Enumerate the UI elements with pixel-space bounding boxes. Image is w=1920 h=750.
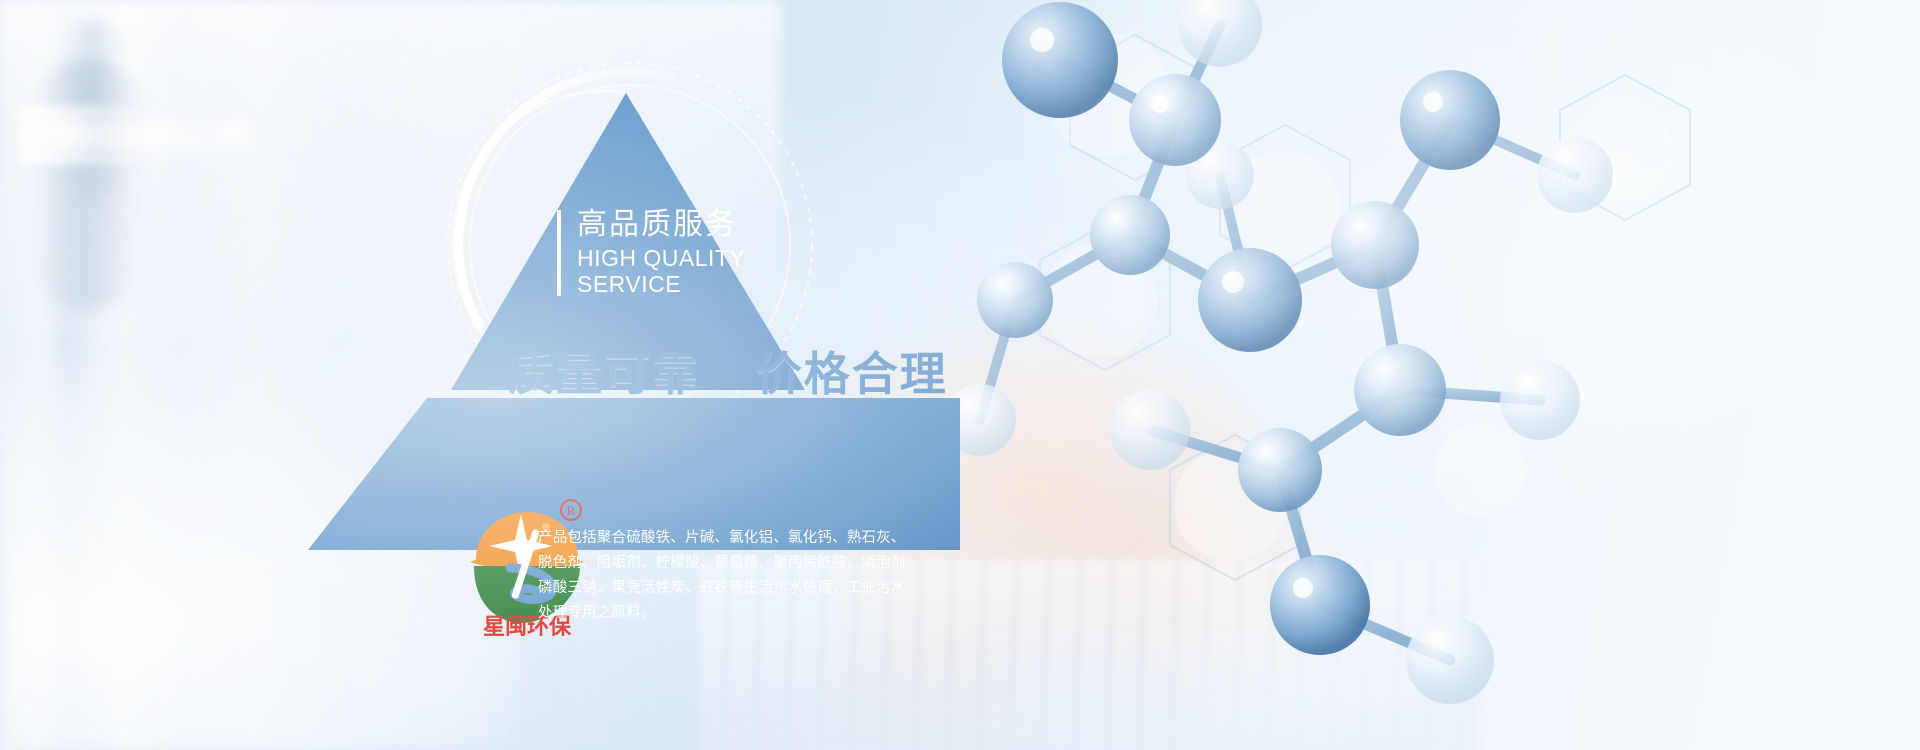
triangle-title-en-2: SERVICE bbox=[577, 273, 745, 296]
molecular-structure-decoration bbox=[920, 0, 1920, 750]
headline-right: 价格合理 bbox=[756, 348, 948, 400]
triangle-title-en-1: HIGH QUALITY bbox=[577, 247, 745, 270]
description-line-4: 处理专用之原料。 bbox=[538, 601, 938, 626]
page-title: 质量可靠 价格合理 bbox=[448, 338, 1008, 404]
description-line-3: 磷酸三钠、果壳活性炭、亚铁等生活污水处理，工业污水 bbox=[538, 576, 938, 601]
description-line-1: 产品包括聚合硫酸铁、片碱、氯化铝、氯化钙、熟石灰、 bbox=[538, 526, 938, 551]
triangle-title-cn: 高品质服务 bbox=[577, 210, 745, 240]
info-block: R 星闽环保 产品包括聚合硫酸铁、片碱、氯化铝、氯化钙、熟石灰、 脱色剂、阻垢剂… bbox=[300, 398, 960, 550]
product-description: 产品包括聚合硫酸铁、片碱、氯化铝、氯化钙、熟石灰、 脱色剂、阻垢剂、柠檬酸、葡萄… bbox=[538, 526, 938, 626]
description-line-2: 脱色剂、阻垢剂、柠檬酸、葡萄糖、聚丙烯酰胺、消泡剂 bbox=[538, 551, 938, 576]
svg-text:R: R bbox=[567, 503, 576, 518]
headline-left: 质量可靠 bbox=[508, 348, 700, 400]
background-glass-rods bbox=[20, 105, 280, 165]
promo-banner: 高品质服务 HIGH QUALITY SERVICE 质量可靠 价格合理 bbox=[0, 0, 1920, 750]
